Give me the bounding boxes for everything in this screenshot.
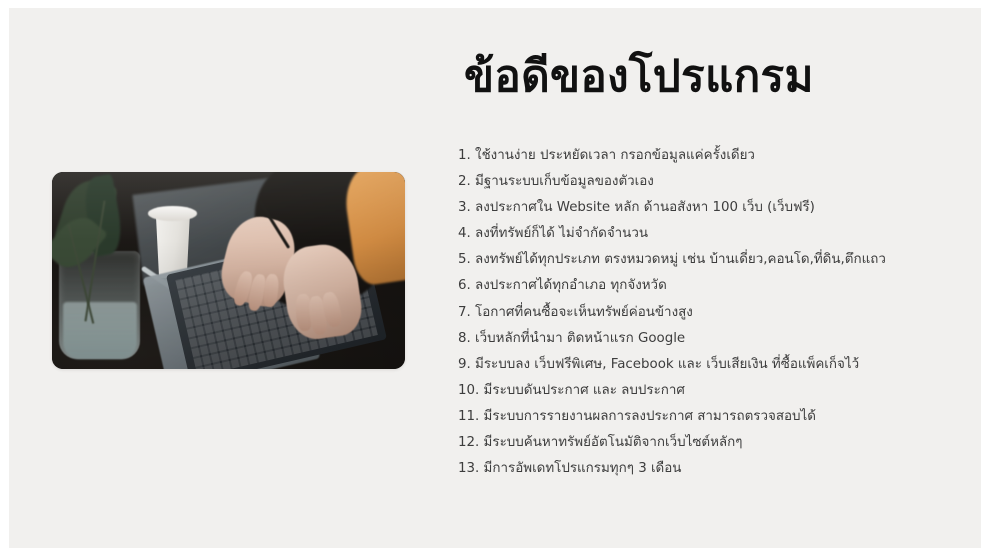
- slide-canvas: ข้อดีของโปรแกรม 1. ใช้งานง่าย ประหยัดเวล…: [9, 8, 981, 548]
- list-item: 12. มีระบบค้นหาทรัพย์อัตโนมัติจากเว็บไซต…: [458, 430, 970, 456]
- list-item: 10. มีระบบดันประกาศ และ ลบประกาศ: [458, 378, 970, 404]
- slide-frame: ข้อดีของโปรแกรม 1. ใช้งานง่าย ประหยัดเวล…: [0, 0, 991, 557]
- slide-photo: [52, 172, 405, 369]
- list-item: 5. ลงทรัพย์ได้ทุกประเภท ตรงหมวดหมู่ เช่น…: [458, 247, 970, 273]
- photo-stage: [52, 172, 405, 369]
- slide-content: ข้อดีของโปรแกรม 1. ใช้งานง่าย ประหยัดเวล…: [455, 8, 975, 548]
- list-item: 1. ใช้งานง่าย ประหยัดเวลา กรอกข้อมูลแค่ค…: [458, 143, 970, 169]
- benefits-list: 1. ใช้งานง่าย ประหยัดเวลา กรอกข้อมูลแค่ค…: [458, 143, 970, 482]
- list-item: 6. ลงประกาศได้ทุกอำเภอ ทุกจังหวัด: [458, 273, 970, 299]
- list-item: 2. มีฐานระบบเก็บข้อมูลของตัวเอง: [458, 169, 970, 195]
- page-title: ข้อดีของโปรแกรม: [464, 51, 814, 103]
- photo-color-grade: [52, 172, 405, 369]
- list-item: 11. มีระบบการรายงานผลการลงประกาศ สามารถต…: [458, 404, 970, 430]
- list-item: 7. โอกาศที่คนซื้อจะเห็นทรัพย์ค่อนข้างสูง: [458, 300, 970, 326]
- list-item: 13. มีการอัพเดทโปรแกรมทุกๆ 3 เดือน: [458, 456, 970, 482]
- list-item: 4. ลงที่ทรัพย์ก็ได้ ไม่จำกัดจำนวน: [458, 221, 970, 247]
- list-item: 8. เว็บหลักที่นำมา ติดหน้าแรก Google: [458, 326, 970, 352]
- list-item: 3. ลงประกาศใน Website หลัก ด้านอสังหา 10…: [458, 195, 970, 221]
- list-item: 9. มีระบบลง เว็บฟรีพิเศษ, Facebook และ เ…: [458, 352, 970, 378]
